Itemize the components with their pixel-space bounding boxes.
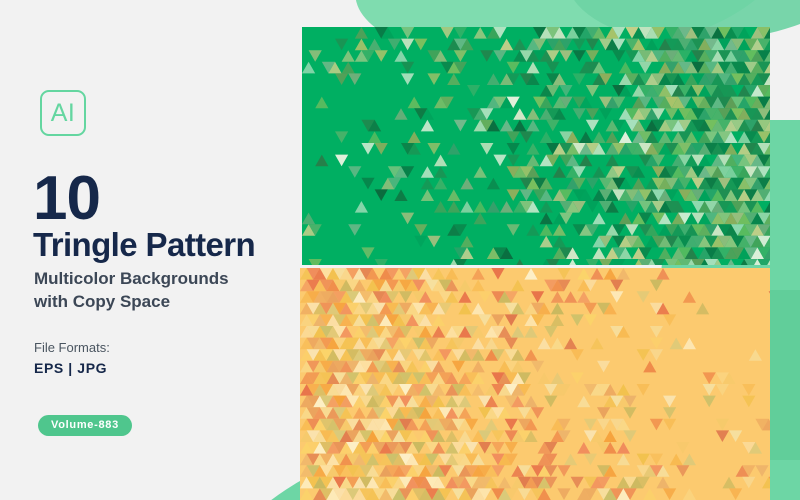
green-mosaic [302,27,770,265]
preview-orange-triangle-pattern[interactable] [300,268,770,500]
info-column: AI 10 Tringle Pattern Multicolor Backgro… [0,0,300,500]
poster-canvas: AI 10 Tringle Pattern Multicolor Backgro… [0,0,800,500]
volume-badge: Volume-883 [38,415,132,436]
orange-mosaic [300,268,770,500]
file-formats-value: EPS | JPG [34,360,107,376]
page-title: Tringle Pattern [33,228,255,263]
file-formats-label: File Formats: [34,340,110,355]
page-subtitle-line-2: with Copy Space [34,291,294,314]
pack-count: 10 [33,168,100,230]
ai-file-icon: AI [40,90,86,136]
page-subtitle-line-1: Multicolor Backgrounds [34,268,294,291]
preview-green-triangle-pattern[interactable] [302,27,770,265]
page-subtitle: Multicolor Backgrounds with Copy Space [34,268,294,314]
ai-file-icon-label: AI [51,99,76,128]
